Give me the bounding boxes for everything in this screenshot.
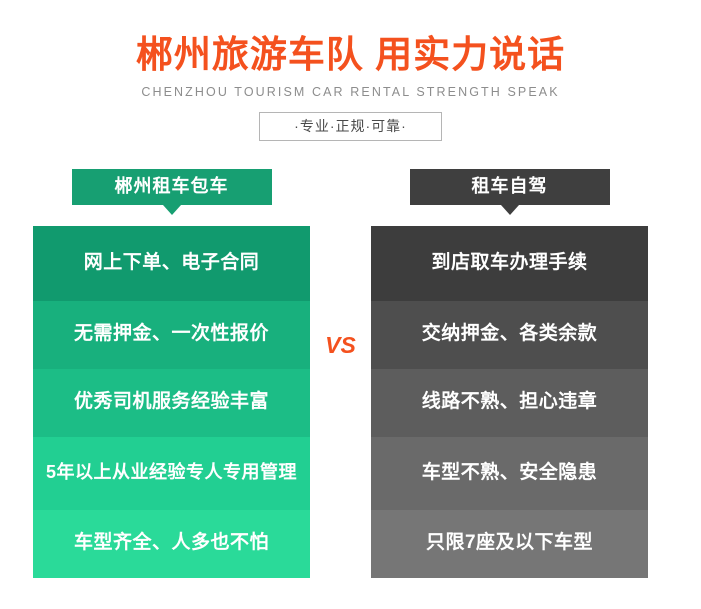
tagline-badge: ·专业·正规·可靠· bbox=[259, 112, 442, 142]
column-header-right: 租车自驾 bbox=[410, 169, 610, 204]
feature-row: 交纳押金、各类余款 bbox=[371, 301, 648, 369]
tagline-container: ·专业·正规·可靠· bbox=[0, 112, 701, 142]
feature-list-right: 到店取车办理手续交纳押金、各类余款线路不熟、担心违章车型不熟、安全隐患只限7座及… bbox=[371, 226, 648, 578]
column-header-left-wrap: 郴州租车包车 bbox=[33, 169, 310, 204]
feature-row: 车型齐全、人多也不怕 bbox=[33, 510, 310, 578]
feature-list-left: 网上下单、电子合同无需押金、一次性报价优秀司机服务经验丰富5年以上从业经验专人专… bbox=[33, 226, 310, 578]
feature-row-line: 专人专用管理 bbox=[186, 460, 297, 486]
feature-row-line: 5年以上从业经验 bbox=[46, 460, 186, 486]
feature-row: 只限7座及以下车型 bbox=[371, 510, 648, 578]
feature-row: 网上下单、电子合同 bbox=[33, 226, 310, 301]
feature-row: 车型不熟、安全隐患 bbox=[371, 437, 648, 510]
vs-badge: VS bbox=[310, 169, 371, 521]
feature-row: 线路不熟、担心违章 bbox=[371, 369, 648, 437]
page-title: 郴州旅游车队 用实力说话 bbox=[0, 34, 701, 77]
comparison-column-left: 郴州租车包车 网上下单、电子合同无需押金、一次性报价优秀司机服务经验丰富5年以上… bbox=[33, 169, 310, 577]
column-header-left: 郴州租车包车 bbox=[72, 169, 272, 204]
column-header-right-wrap: 租车自驾 bbox=[371, 169, 648, 204]
page-subtitle: CHENZHOU TOURISM CAR RENTAL STRENGTH SPE… bbox=[0, 85, 701, 99]
feature-row: 5年以上从业经验专人专用管理 bbox=[33, 437, 310, 510]
feature-row: 到店取车办理手续 bbox=[371, 226, 648, 301]
page-header: 郴州旅游车队 用实力说话 CHENZHOU TOURISM CAR RENTAL… bbox=[0, 0, 701, 141]
feature-row: 优秀司机服务经验丰富 bbox=[33, 369, 310, 437]
feature-row: 无需押金、一次性报价 bbox=[33, 301, 310, 369]
comparison-column-right: 租车自驾 到店取车办理手续交纳押金、各类余款线路不熟、担心违章车型不熟、安全隐患… bbox=[371, 169, 648, 577]
comparison-section: 郴州租车包车 网上下单、电子合同无需押金、一次性报价优秀司机服务经验丰富5年以上… bbox=[0, 169, 701, 569]
